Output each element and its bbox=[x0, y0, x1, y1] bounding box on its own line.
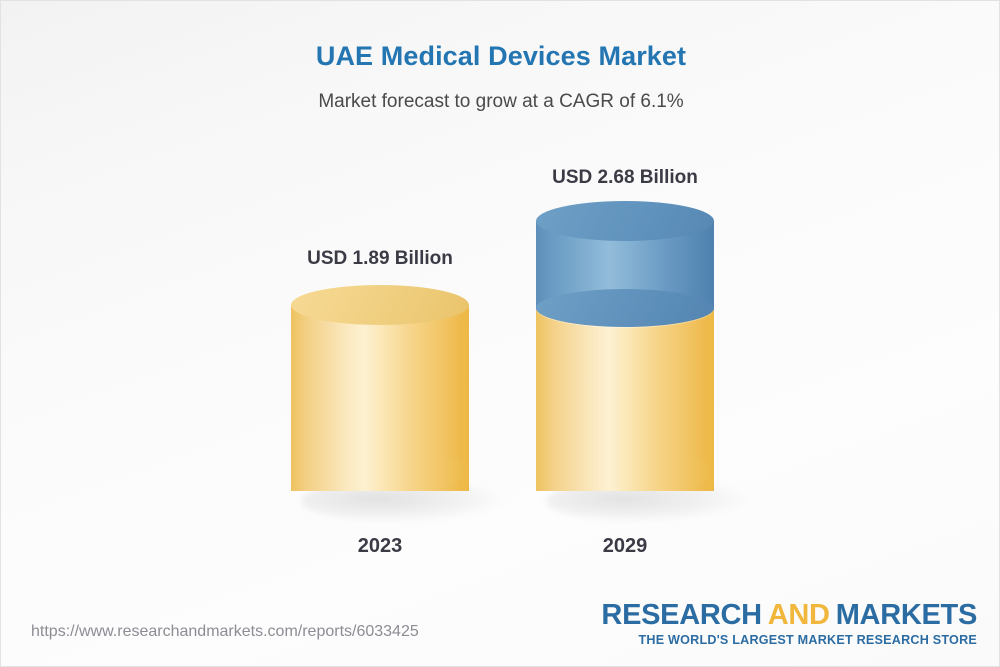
bar-2029 bbox=[536, 201, 714, 511]
category-label-2029: 2029 bbox=[525, 535, 725, 558]
bar-2029-segment-divider bbox=[536, 289, 714, 327]
researchandmarkets-logo[interactable]: RESEARCHANDMARKETS THE WORLD'S LARGEST M… bbox=[601, 601, 977, 647]
logo-tagline: THE WORLD'S LARGEST MARKET RESEARCH STOR… bbox=[601, 633, 977, 647]
data-label-2029: USD 2.68 Billion bbox=[525, 167, 725, 189]
report-url[interactable]: https://www.researchandmarkets.com/repor… bbox=[31, 623, 419, 641]
logo-word-research: RESEARCH bbox=[601, 599, 761, 631]
bar-2029-bottom-cap bbox=[536, 451, 714, 491]
logo-word-and: AND bbox=[768, 599, 830, 631]
logo-wordmark: RESEARCHANDMARKETS bbox=[601, 601, 977, 631]
logo-word-markets: MARKETS bbox=[836, 599, 977, 631]
bar-2029-top-cap bbox=[536, 201, 714, 241]
bar-2023-bottom-cap bbox=[291, 451, 469, 491]
data-label-2023: USD 1.89 Billion bbox=[280, 248, 480, 270]
chart-canvas: UAE Medical Devices Market Market foreca… bbox=[0, 0, 1000, 667]
bar-2023 bbox=[291, 285, 469, 511]
bar-2023-top-cap bbox=[291, 285, 469, 325]
plot-area: USD 1.89 Billion 2023 USD 2.68 Billion bbox=[1, 1, 1000, 667]
category-label-2023: 2023 bbox=[280, 535, 480, 558]
